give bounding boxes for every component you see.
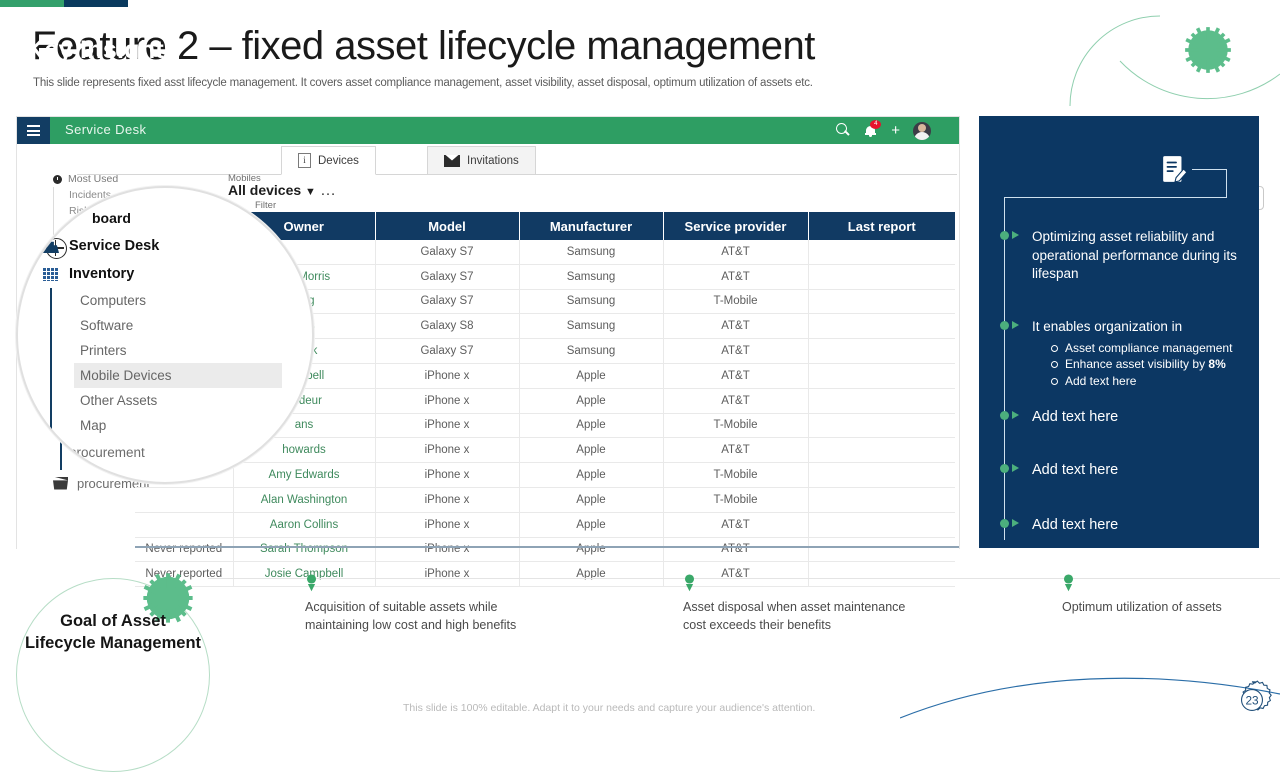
table-header-last-report[interactable]: Last report [808,212,955,240]
cell-last-report [808,289,955,314]
cell-provider: AT&T [663,240,808,264]
cell-never-reported: Never reported [135,537,233,562]
cell-provider: AT&T [663,363,808,388]
accent-bar-green [0,0,64,7]
magnified-sidebar-item-mobile-devices[interactable]: Mobile Devices [74,363,282,388]
procurement-box-icon [42,445,59,459]
cell-provider: AT&T [663,537,808,562]
cell-manufacturer: Samsung [519,314,663,339]
cell-never-reported [135,512,233,537]
cell-never-reported [135,487,233,512]
bullet-arrow-icon [1012,519,1019,527]
table-row[interactable]: Never reported Sarah Thompson iPhone x A… [135,537,955,562]
key-insight-item-1: Optimizing asset reliability and operati… [1032,228,1256,284]
bullet-arrow-icon [1012,411,1019,419]
cell-manufacturer: Apple [519,463,663,488]
cell-model: iPhone x [375,537,519,562]
cell-provider: T-Mobile [663,413,808,438]
key-insight-text: Add text here [1032,409,1118,425]
bullet-arrow-icon [1012,464,1019,472]
key-insight-item-5: Add text here [1032,516,1256,535]
magnified-sidebar-item-other-assets[interactable]: Other Assets [74,388,282,413]
cell-last-report [808,463,955,488]
key-insights-title: Key Insights [26,36,178,65]
cell-last-report [808,413,955,438]
cell-manufacturer: Samsung [519,289,663,314]
overflow-menu-icon[interactable]: … [320,182,337,200]
sidebar-item-label: procurement [69,445,145,460]
sidebar-item-label: Inventory [69,266,134,282]
cell-model: iPhone x [375,363,519,388]
location-pin-icon [305,574,318,594]
accent-bar-navy [64,0,128,7]
timeline-text: Asset disposal when asset maintenance co… [683,598,913,634]
timeline-item-1: Acquisition of suitable assets while mai… [305,598,535,634]
sidebar-item-label: Service Desk [69,238,159,254]
highlight-value: 8% [1208,357,1225,371]
cell-owner: Aaron Collins [233,512,375,537]
mail-icon [444,155,460,167]
info-icon: i [298,153,311,168]
cell-provider: T-Mobile [663,463,808,488]
notifications-bell-icon[interactable]: 4 [864,123,878,138]
location-pin-icon [683,574,696,594]
key-insights-connector-top [1004,197,1227,198]
cell-manufacturer: Apple [519,562,663,587]
key-insight-item-2: It enables organization in Asset complia… [1032,318,1256,389]
cell-model: iPhone x [375,463,519,488]
app-header: Service Desk 4 + [17,117,959,144]
table-row[interactable]: Never reported Josie Campbell iPhone x A… [135,562,955,587]
magnified-sidebar-item-software[interactable]: Software [74,313,282,338]
search-icon[interactable] [836,123,851,138]
key-insight-sublist: Asset compliance management Enhance asse… [1050,340,1256,390]
goal-title: Goal of Asset Lifecycle Management [24,610,202,654]
app-header-tools: 4 + [836,117,931,144]
tab-invitations[interactable]: Invitations [427,146,536,174]
magnified-sidebar-item-inventory[interactable]: Inventory [42,260,282,288]
cell-last-report [808,314,955,339]
cell-model: Galaxy S7 [375,240,519,264]
key-insight-item-3: Add text here [1032,408,1256,427]
tab-devices[interactable]: i Devices [281,146,376,175]
decorative-arcs-top-right [1060,0,1280,106]
cell-model: Galaxy S7 [375,264,519,289]
cell-manufacturer: Apple [519,413,663,438]
cell-manufacturer: Samsung [519,339,663,364]
magnified-sidebar-item-computers[interactable]: Computers [74,288,282,313]
key-insight-text: Add text here [1032,462,1118,478]
cell-manufacturer: Apple [519,512,663,537]
key-insight-sub-2: Enhance asset visibility by 8% [1050,356,1256,373]
timeline-item-2: Asset disposal when asset maintenance co… [683,598,913,634]
magnified-sidebar-item-printers[interactable]: Printers [74,338,282,363]
cell-model: Galaxy S7 [375,289,519,314]
cell-model: iPhone x [375,562,519,587]
key-insight-sub-1: Asset compliance management [1050,340,1256,357]
key-insights-spine [1004,197,1005,540]
cell-last-report [808,388,955,413]
key-insights-connector-h [1192,169,1227,170]
cell-manufacturer: Samsung [519,240,663,264]
page-subtitle: This slide represents fixed asst lifecyc… [33,77,933,89]
cell-provider: AT&T [663,388,808,413]
cell-last-report [808,438,955,463]
app-title: Service Desk [65,122,146,137]
tab-label: Invitations [467,155,519,167]
cell-owner: Sarah Thompson [233,537,375,562]
cell-model: iPhone x [375,487,519,512]
bullet-arrow-icon [1012,231,1019,239]
bullet-dot-icon [1000,231,1009,240]
cell-manufacturer: Apple [519,363,663,388]
service-desk-icon [42,239,59,253]
cell-provider: AT&T [663,314,808,339]
cell-last-report [808,264,955,289]
magnified-dashboard-label: board [92,210,131,226]
cell-manufacturer: Apple [519,537,663,562]
bullet-dot-icon [1000,464,1009,473]
cell-manufacturer: Apple [519,438,663,463]
hamburger-menu-icon[interactable] [17,117,50,144]
page-number: 23 [1245,694,1259,708]
cell-last-report [808,240,955,264]
timeline-text: Optimum utilization of assets [1062,598,1252,616]
cell-provider: T-Mobile [663,487,808,512]
cell-manufacturer: Apple [519,388,663,413]
table-header-model[interactable]: Model [375,212,519,240]
decorative-arc-bottom-right [900,660,1280,720]
bullet-arrow-icon [1012,321,1019,329]
cell-model: iPhone x [375,413,519,438]
magnified-sidebar-item-procurement[interactable]: procurement [42,438,282,466]
cell-model: Galaxy S7 [375,339,519,364]
tab-bar: i Devices Invitations [77,146,957,175]
clock-icon [53,175,62,184]
bullet-dot-icon [1000,411,1009,420]
cell-provider: AT&T [663,264,808,289]
timeline-text: Acquisition of suitable assets while mai… [305,598,535,634]
cell-model: iPhone x [375,388,519,413]
magnifier-overlay: board Service Desk Inventory Computers S… [16,186,314,484]
cell-owner: Josie Campbell [233,562,375,587]
cell-last-report [808,512,955,537]
cell-model: Galaxy S8 [375,314,519,339]
cell-last-report [808,562,955,587]
add-icon[interactable]: + [891,123,900,138]
cell-provider: AT&T [663,339,808,364]
location-pin-icon [1062,574,1075,594]
cell-model: iPhone x [375,512,519,537]
cell-manufacturer: Samsung [519,264,663,289]
cell-model: iPhone x [375,438,519,463]
timeline-item-3: Optimum utilization of assets [1062,598,1252,616]
table-row[interactable]: Alan Washington iPhone x Apple T-Mobile [135,487,955,512]
bullet-dot-icon [1000,519,1009,528]
cell-last-report [808,363,955,388]
timeline-rule [208,578,1280,579]
tab-label: Devices [318,155,359,167]
key-insight-sub-3: Add text here [1050,373,1256,390]
table-header-provider[interactable]: Service provider [663,212,808,240]
page-number-gear-icon: 23 [1232,680,1272,720]
magnified-sidebar-item-map[interactable]: Map [74,413,282,438]
note-edit-icon [1162,155,1188,183]
starburst-badge-top [1182,24,1234,76]
footer-note: This slide is 100% editable. Adapt it to… [403,702,815,714]
key-insight-item-4: Add text here [1032,461,1256,480]
table-row[interactable]: Aaron Collins iPhone x Apple AT&T [135,512,955,537]
inventory-grid-icon [42,267,59,281]
user-avatar[interactable] [913,122,931,140]
bullet-dot-icon [1000,321,1009,330]
key-insight-text: It enables organization in [1032,319,1182,334]
key-insight-text: Optimizing asset reliability and operati… [1032,229,1237,281]
cell-last-report [808,487,955,512]
notification-badge: 4 [870,120,881,129]
table-bottom-rule [135,546,959,548]
cell-owner: Alan Washington [233,487,375,512]
cell-last-report [808,339,955,364]
cell-provider: AT&T [663,438,808,463]
key-insights-connector-v [1226,169,1227,198]
cell-last-report [808,537,955,562]
cell-provider: T-Mobile [663,289,808,314]
table-header-manufacturer[interactable]: Manufacturer [519,212,663,240]
magnified-sidebar-item-service-desk[interactable]: Service Desk [42,232,282,260]
cell-manufacturer: Apple [519,487,663,512]
cell-provider: AT&T [663,512,808,537]
key-insight-text: Add text here [1032,517,1118,533]
